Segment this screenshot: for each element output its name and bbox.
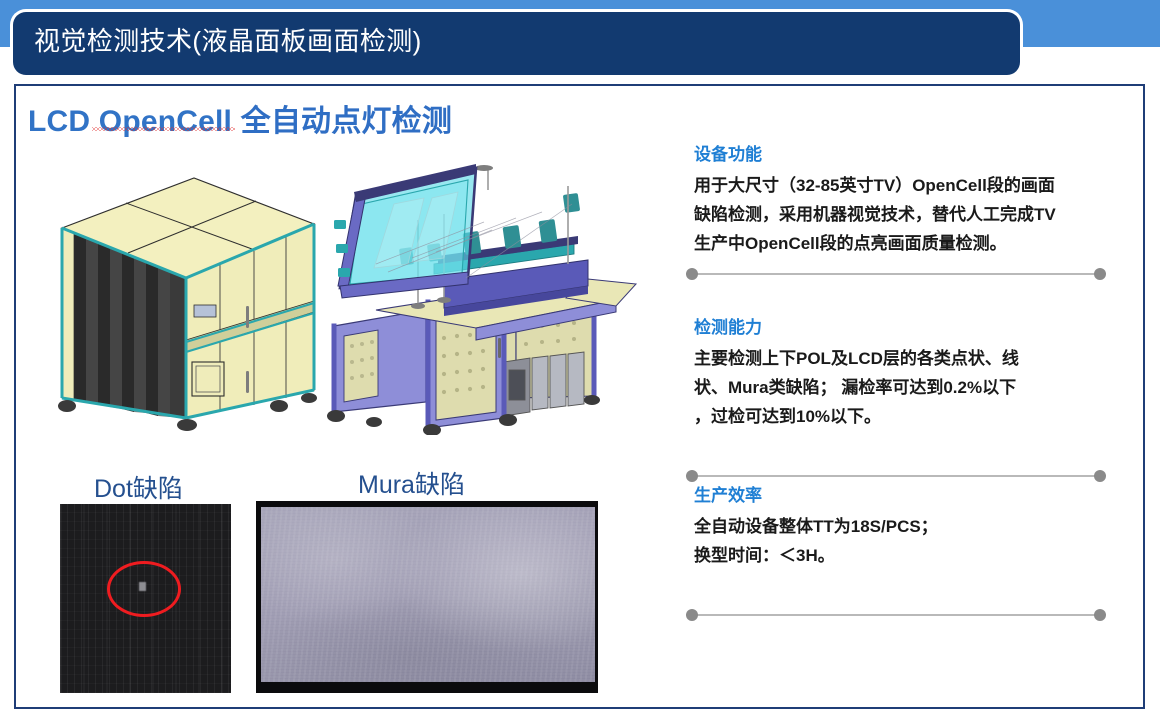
info-body: 主要检测上下POL及LCD层的各类点状、线 状、Mura类缺陷； 漏检率可达到0… bbox=[694, 344, 1106, 431]
info-heading: 设备功能 bbox=[694, 140, 1106, 165]
mura-defect-label: Mura缺陷 bbox=[358, 465, 465, 501]
info-line: 生产中OpenCell段的点亮画面质量检测。 bbox=[694, 229, 1106, 258]
page-title: 视觉检测技术(液晶面板画面检测) bbox=[34, 24, 422, 58]
info-block-equipment-function: 设备功能 用于大尺寸（32-85英寸TV）OpenCell段的画面 缺陷检测，采… bbox=[686, 140, 1106, 258]
spellcheck-underline bbox=[92, 127, 235, 131]
mura-defect-photo bbox=[256, 501, 598, 693]
slide-title-cjk: 全自动点灯检测 bbox=[241, 105, 452, 138]
mura-panel-surface bbox=[261, 507, 595, 682]
info-line: 全自动设备整体TT为18S/PCS； bbox=[694, 512, 1106, 541]
mura-texture-overlay bbox=[261, 507, 595, 682]
dot-defect-photo bbox=[60, 504, 231, 693]
divider-bar bbox=[692, 614, 1100, 616]
info-line: 状、Mura类缺陷； 漏检率可达到0.2%以下 bbox=[694, 373, 1106, 402]
illustration-row bbox=[30, 160, 650, 435]
slide-title-latin: LCD OpenCell bbox=[28, 105, 241, 138]
info-body: 全自动设备整体TT为18S/PCS； 换型时间：＜3H。 bbox=[694, 512, 1106, 570]
info-line: 主要检测上下POL及LCD层的各类点状、线 bbox=[694, 344, 1106, 373]
info-line: 缺陷检测，采用机器视觉技术，替代人工完成TV bbox=[694, 200, 1106, 229]
divider-bar bbox=[692, 475, 1100, 477]
section-divider bbox=[686, 268, 1106, 280]
divider-knob-left bbox=[686, 268, 698, 280]
cabinet-enclosure-illustration bbox=[34, 166, 324, 434]
info-block-detection-capability: 检测能力 主要检测上下POL及LCD层的各类点状、线 状、Mura类缺陷； 漏检… bbox=[686, 313, 1106, 431]
info-heading: 检测能力 bbox=[694, 313, 1106, 338]
info-body: 用于大尺寸（32-85英寸TV）OpenCell段的画面 缺陷检测，采用机器视觉… bbox=[694, 171, 1106, 258]
divider-bar bbox=[692, 273, 1100, 275]
info-line: 换型时间：＜3H。 bbox=[694, 541, 1106, 570]
section-divider bbox=[686, 609, 1106, 621]
defect-annotation-ellipse bbox=[107, 561, 181, 617]
info-line: 用于大尺寸（32-85英寸TV）OpenCell段的画面 bbox=[694, 171, 1106, 200]
inspection-station-illustration bbox=[316, 160, 646, 435]
info-heading: 生产效率 bbox=[694, 481, 1106, 506]
divider-knob-right bbox=[1094, 609, 1106, 621]
divider-knob-right bbox=[1094, 268, 1106, 280]
divider-knob-left bbox=[686, 609, 698, 621]
info-line: ，过检可达到10%以下。 bbox=[694, 402, 1106, 431]
dot-defect-label: Dot缺陷 bbox=[94, 469, 183, 505]
info-block-production-efficiency: 生产效率 全自动设备整体TT为18S/PCS； 换型时间：＜3H。 bbox=[686, 481, 1106, 570]
slide-title: LCD OpenCell 全自动点灯检测 bbox=[28, 96, 452, 140]
